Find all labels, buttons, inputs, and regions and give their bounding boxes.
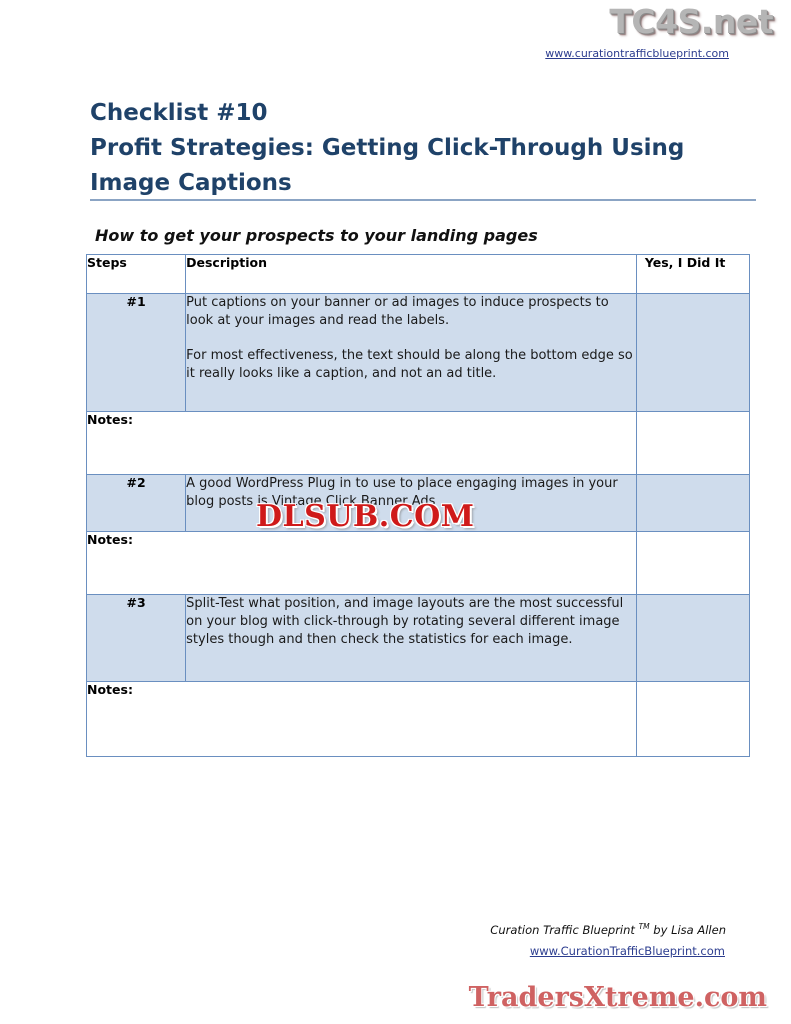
notes-label[interactable]: Notes: (87, 412, 637, 475)
table-row: #1 Put captions on your banner or ad ima… (87, 294, 750, 412)
page-subtitle: How to get your prospects to your landin… (95, 226, 538, 245)
step-description: Put captions on your banner or ad images… (186, 294, 637, 412)
page-title-line-3: Image Captions (90, 166, 710, 201)
footer-credit-suffix: by Lisa Allen (650, 923, 726, 937)
watermark-tradersxtreme: TradersXtreme.com (469, 982, 767, 1013)
brand-url-link[interactable]: www.curationtrafficblueprint.com (545, 47, 729, 60)
notes-yes-cell[interactable] (636, 682, 749, 757)
footer-credit-prefix: Curation Traffic Blueprint (490, 923, 638, 937)
yes-i-did-it-checkbox-cell[interactable] (636, 595, 749, 682)
step-description-paragraph: For most effectiveness, the text should … (186, 347, 636, 383)
page-title-line-2: Profit Strategies: Getting Click-Through… (90, 131, 710, 166)
trademark-mark: TM (639, 922, 650, 931)
step-number: #3 (87, 595, 186, 682)
title-divider (90, 199, 756, 201)
notes-yes-cell[interactable] (636, 532, 749, 595)
page-title: Checklist #10 Profit Strategies: Getting… (90, 96, 710, 201)
watermark-dlsub: DLSUB.COM (256, 499, 474, 534)
notes-label[interactable]: Notes: (87, 532, 637, 595)
step-description-paragraph: Split-Test what position, and image layo… (186, 595, 636, 649)
yes-i-did-it-checkbox-cell[interactable] (636, 475, 749, 532)
column-header-description: Description (186, 255, 637, 294)
footer-credit: Curation Traffic Blueprint TM by Lisa Al… (0, 922, 751, 937)
notes-row: Notes: (87, 682, 750, 757)
notes-yes-cell[interactable] (636, 412, 749, 475)
notes-row: Notes: (87, 532, 750, 595)
table-header-row: Steps Description Yes, I Did It (87, 255, 750, 294)
step-number: #2 (87, 475, 186, 532)
notes-label[interactable]: Notes: (87, 682, 637, 757)
notes-row: Notes: (87, 412, 750, 475)
step-description: Split-Test what position, and image layo… (186, 595, 637, 682)
step-number: #1 (87, 294, 186, 412)
page-header: TC4S.net www.curationtrafficblueprint.co… (0, 0, 791, 72)
page-title-line-1: Checklist #10 (90, 96, 710, 131)
brand-logo: TC4S.net (609, 2, 773, 41)
column-header-steps: Steps (87, 255, 186, 294)
table-row: #3 Split-Test what position, and image l… (87, 595, 750, 682)
footer-url-link[interactable]: www.CurationTrafficBlueprint.com (0, 944, 751, 958)
yes-i-did-it-checkbox-cell[interactable] (636, 294, 749, 412)
step-description-paragraph: Put captions on your banner or ad images… (186, 294, 636, 330)
column-header-yes-i-did-it: Yes, I Did It (636, 255, 749, 294)
